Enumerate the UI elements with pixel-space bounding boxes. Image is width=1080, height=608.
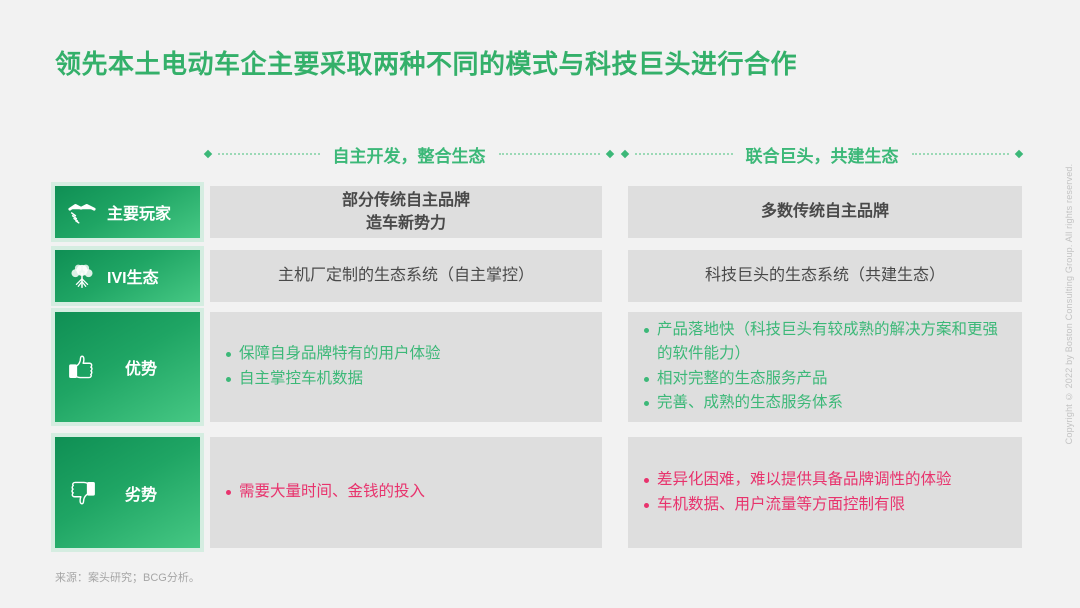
cell-line: 科技巨头的生态系统（共建生态） [705, 264, 945, 287]
cell-line: 主机厂定制的生态系统（自主掌控） [278, 264, 534, 287]
bullet-list: 需要大量时间、金钱的投入 [226, 480, 586, 505]
cell-disadvantages-left: 需要大量时间、金钱的投入 [210, 437, 602, 548]
cell-line: 部分传统自主品牌 [342, 189, 470, 212]
source-note: 来源：案头研究；BCG分析。 [55, 569, 200, 585]
row-label-text: 劣势 [125, 481, 157, 505]
row-label-text: IVI生态 [107, 264, 159, 288]
row-label-ivi-ecosystem: IVI生态 [55, 250, 200, 302]
list-item: 车机数据、用户流量等方面控制有限 [644, 493, 1006, 517]
bullet-list: 保障自身品牌特有的用户体验 自主掌控车机数据 [226, 342, 586, 391]
row-label-text: 主要玩家 [107, 200, 171, 224]
list-item: 保障自身品牌特有的用户体验 [226, 342, 586, 366]
cell-ivi-left: 主机厂定制的生态系统（自主掌控） [210, 250, 602, 302]
cell-main-players-left: 部分传统自主品牌 造车新势力 [210, 186, 602, 238]
row-label-advantages: 优势 [55, 312, 200, 422]
cell-line: 造车新势力 [342, 212, 470, 235]
bullet-list: 产品落地快（科技巨头有较成熟的解决方案和更强的软件能力） 相对完整的生态服务产品… [644, 318, 1006, 415]
slide-root: 领先本土电动车企主要采取两种不同的模式与科技巨头进行合作 自主开发，整合生态 联… [0, 0, 1080, 608]
cell-main-players-right: 多数传统自主品牌 [628, 186, 1022, 238]
copyright-notice: Copyright © 2022 by Boston Consulting Gr… [1064, 164, 1074, 445]
list-item: 相对完整的生态服务产品 [644, 367, 1006, 391]
row-label-text: 优势 [125, 355, 157, 379]
cell-advantages-right: 产品落地快（科技巨头有较成熟的解决方案和更强的软件能力） 相对完整的生态服务产品… [628, 312, 1022, 422]
handshake-icon [67, 197, 97, 227]
thumbs-up-icon [67, 352, 97, 382]
cell-ivi-right: 科技巨头的生态系统（共建生态） [628, 250, 1022, 302]
cell-line: 多数传统自主品牌 [761, 200, 889, 223]
bullet-list: 差异化困难，难以提供具备品牌调性的体验 车机数据、用户流量等方面控制有限 [644, 468, 1006, 517]
list-item: 完善、成熟的生态服务体系 [644, 391, 1006, 415]
list-item: 需要大量时间、金钱的投入 [226, 480, 586, 504]
list-item: 差异化困难，难以提供具备品牌调性的体验 [644, 468, 1006, 492]
list-item: 产品落地快（科技巨头有较成熟的解决方案和更强的软件能力） [644, 318, 1006, 365]
comparison-grid: 主要玩家 部分传统自主品牌 造车新势力 多数传统自主品牌 [0, 0, 1080, 608]
list-item: 自主掌控车机数据 [226, 367, 586, 391]
row-label-disadvantages: 劣势 [55, 437, 200, 548]
thumbs-down-icon [67, 478, 97, 508]
cell-advantages-left: 保障自身品牌特有的用户体验 自主掌控车机数据 [210, 312, 602, 422]
cell-disadvantages-right: 差异化困难，难以提供具备品牌调性的体验 车机数据、用户流量等方面控制有限 [628, 437, 1022, 548]
row-label-main-players: 主要玩家 [55, 186, 200, 238]
tree-icon [67, 261, 97, 291]
